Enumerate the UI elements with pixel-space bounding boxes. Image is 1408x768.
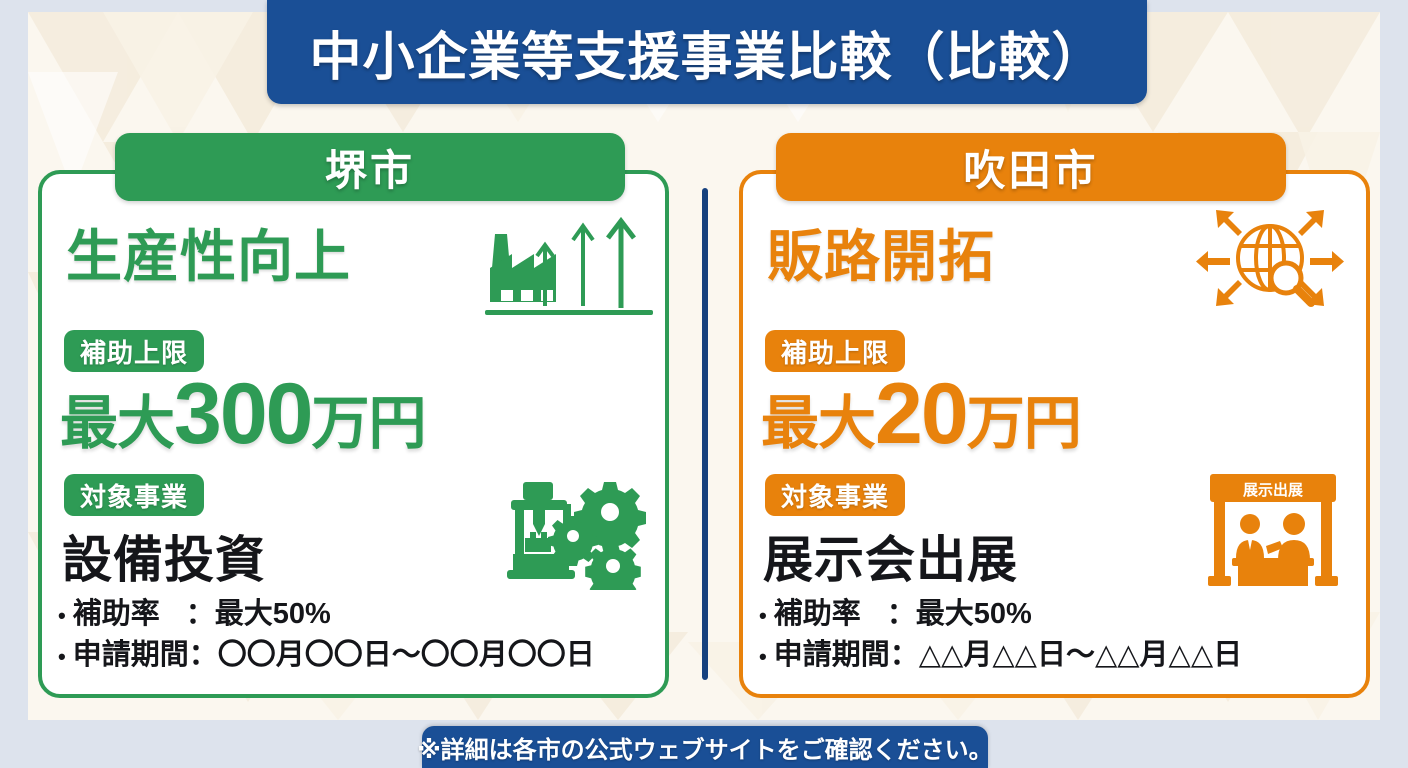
list-item: • 申請期間 ： 〇〇月〇〇日〜〇〇月〇〇日 [58, 635, 658, 676]
city-name-suita: 吹田市 [963, 137, 1098, 198]
detail-bullets-sakai: • 補助率 ： 最大50% • 申請期間 ： 〇〇月〇〇日〜〇〇月〇〇日 [58, 594, 658, 676]
bullet-label: 申請期間 [774, 635, 890, 676]
cap-value: 20 [875, 366, 967, 462]
bullet-dot: • [759, 600, 767, 631]
bullet-value: 最大50% [215, 594, 331, 635]
bullet-dot: • [58, 641, 66, 672]
target-business-name-suita: 展示会出展 [763, 520, 1018, 592]
cap-unit: 万円 [967, 391, 1081, 456]
booth-banner-label: 展示出展 [1243, 481, 1303, 499]
page-title-banner: 中小企業等支援事業比較（比較） [267, 0, 1147, 104]
cap-prefix: 最大 [761, 391, 875, 456]
bullet-separator: ： [189, 635, 218, 676]
cap-unit: 万円 [312, 391, 426, 456]
cap-prefix: 最大 [60, 391, 174, 456]
factory-growth-icon [485, 206, 653, 318]
target-business-tag-label: 対象事業 [781, 477, 889, 514]
bullet-label: 申請期間 [73, 635, 189, 676]
subsidy-cap-tag-label: 補助上限 [781, 333, 889, 370]
bullet-value: 〇〇月〇〇日〜〇〇月〇〇日 [218, 635, 595, 676]
headline-suita: 販路開拓 [767, 212, 995, 293]
column-divider [702, 188, 708, 680]
column-sakai: 生産性向上 [38, 170, 669, 698]
list-item: • 補助率 ： 最大50% [58, 594, 658, 635]
bullet-label: 補助率 [774, 594, 861, 635]
bullet-value: △△月△△日〜△△月△△日 [919, 635, 1242, 676]
list-item: • 申請期間 ： △△月△△日〜△△月△△日 [759, 635, 1359, 676]
headline-sakai: 生産性向上 [66, 212, 351, 293]
footer-note-banner: ※詳細は各市の公式ウェブサイトをご確認ください。 [422, 726, 988, 768]
bullet-separator: ： [186, 594, 215, 635]
subsidy-cap-amount-sakai: 最大300万円 [60, 365, 426, 464]
bullet-separator: ： [887, 594, 916, 635]
column-suita: 販路開拓 [739, 170, 1370, 698]
footer-note-text: ※詳細は各市の公式ウェブサイトをご確認ください。 [417, 730, 992, 765]
page-title: 中小企業等支援事業比較（比較） [309, 15, 1104, 90]
city-header-sakai: 堺市 [115, 133, 625, 201]
city-name-sakai: 堺市 [325, 137, 415, 198]
exhibition-booth-icon: 展示出展 [1198, 470, 1348, 590]
globe-arrows-search-icon [1186, 206, 1354, 318]
detail-bullets-suita: • 補助率 ： 最大50% • 申請期間 ： △△月△△日〜△△月△△日 [759, 594, 1359, 676]
subsidy-cap-tag-label: 補助上限 [80, 333, 188, 370]
bullet-value: 最大50% [916, 594, 1032, 635]
city-header-suita: 吹田市 [776, 133, 1286, 201]
bullet-label: 補助率 [73, 594, 160, 635]
target-business-tag-sakai: 対象事業 [64, 474, 204, 516]
target-business-tag-suita: 対象事業 [765, 474, 905, 516]
bullet-separator: ： [890, 635, 919, 676]
target-business-name-sakai: 設備投資 [62, 520, 266, 592]
target-business-tag-label: 対象事業 [80, 477, 188, 514]
cap-value: 300 [174, 366, 312, 462]
bullet-dot: • [759, 641, 767, 672]
bullet-dot: • [58, 600, 66, 631]
infographic-canvas: 中小企業等支援事業比較（比較） 堺市 吹田市 生産性向上 [0, 0, 1408, 768]
drill-press-gears-icon [497, 470, 647, 590]
subsidy-cap-amount-suita: 最大20万円 [761, 365, 1081, 464]
list-item: • 補助率 ： 最大50% [759, 594, 1359, 635]
